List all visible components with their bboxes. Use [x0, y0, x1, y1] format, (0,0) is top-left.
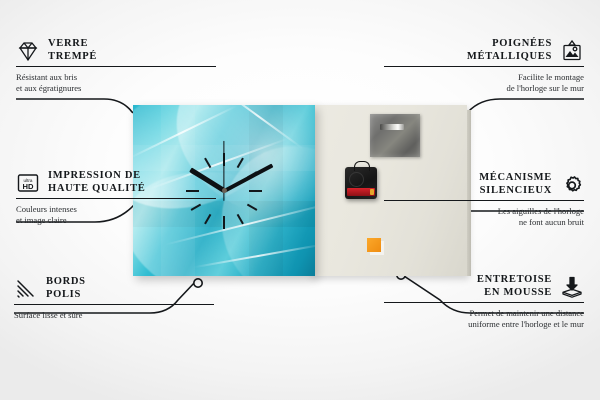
feature-title-line2: HAUTE QUALITÉ: [48, 183, 146, 194]
feature-title-line1: IMPRESSION DE: [48, 170, 141, 181]
feature-poignees-metalliques: POIGNÉES MÉTALLIQUES Facilite le montage…: [384, 38, 584, 93]
feature-title-line2: EN MOUSSE: [484, 287, 552, 298]
feature-entretoise-en-mousse: ENTRETOISE EN MOUSSE Permet de maintenir…: [384, 274, 584, 329]
quartz-movement: [345, 167, 377, 199]
feature-subtitle-line1: Résistant aux bris: [16, 72, 216, 83]
feature-subtitle-line1: Permet de maintenir une distance: [384, 308, 584, 319]
feature-title-line1: VERRE: [48, 38, 88, 49]
feature-impression-haute-qualite: ultra HD IMPRESSION DE HAUTE QUALITÉ Cou…: [16, 170, 216, 225]
battery: [347, 188, 375, 196]
feature-subtitle-line2: de l'horloge sur le mur: [384, 83, 584, 94]
clock-center-cap: [222, 188, 227, 193]
feature-title-line2: MÉTALLIQUES: [467, 51, 552, 62]
metal-hanger-plate: [370, 114, 420, 157]
feature-subtitle-line2: uniforme entre l'horloge et le mur: [384, 319, 584, 330]
ultra-hd-icon: ultra HD: [16, 171, 40, 195]
feature-title-line2: TREMPÉ: [48, 51, 97, 62]
feature-title-line1: BORDS: [46, 276, 86, 287]
feature-subtitle-line2: et aux égratignures: [16, 83, 216, 94]
svg-text:HD: HD: [23, 182, 34, 191]
movement-dial: [349, 172, 364, 187]
foam-spacer-icon: [560, 275, 584, 299]
feature-subtitle-line2: et image claire: [16, 215, 216, 226]
gear-icon: [560, 173, 584, 197]
infographic-page: VERRE TREMPÉ Résistant aux bris et aux é…: [0, 0, 600, 400]
picture-hanger-icon: [560, 39, 584, 63]
feature-divider: [16, 198, 216, 199]
polished-edge-icon: [14, 277, 38, 301]
feature-verre-trempe: VERRE TREMPÉ Résistant aux bris et aux é…: [16, 38, 216, 93]
hanging-loop: [354, 161, 370, 171]
feature-divider: [14, 304, 214, 305]
feature-title-line1: MÉCANISME: [479, 172, 552, 183]
feature-mecanisme-silencieux: MÉCANISME SILENCIEUX Les aiguilles de l'…: [384, 172, 584, 227]
feature-divider: [384, 66, 584, 67]
feature-title-line1: ENTRETOISE: [477, 274, 552, 285]
feature-bords-polis: BORDS POLIS Surface lisse et sûre: [14, 276, 214, 321]
feature-title-line2: SILENCIEUX: [480, 185, 552, 196]
feature-subtitle-line1: Surface lisse et sûre: [14, 310, 214, 321]
feature-subtitle-line2: ne font aucun bruit: [384, 217, 584, 228]
feature-subtitle-line1: Couleurs intenses: [16, 204, 216, 215]
hanger-slot: [380, 124, 404, 130]
feature-subtitle-line1: Les aiguilles de l'horloge: [384, 206, 584, 217]
feature-subtitle-line1: Facilite le montage: [384, 72, 584, 83]
feature-divider: [16, 66, 216, 67]
feature-divider: [384, 302, 584, 303]
feature-title-line1: POIGNÉES: [492, 38, 552, 49]
diamond-icon: [16, 39, 40, 63]
foam-spacer: [367, 238, 381, 252]
feature-divider: [384, 200, 584, 201]
feature-title-line2: POLIS: [46, 289, 81, 300]
